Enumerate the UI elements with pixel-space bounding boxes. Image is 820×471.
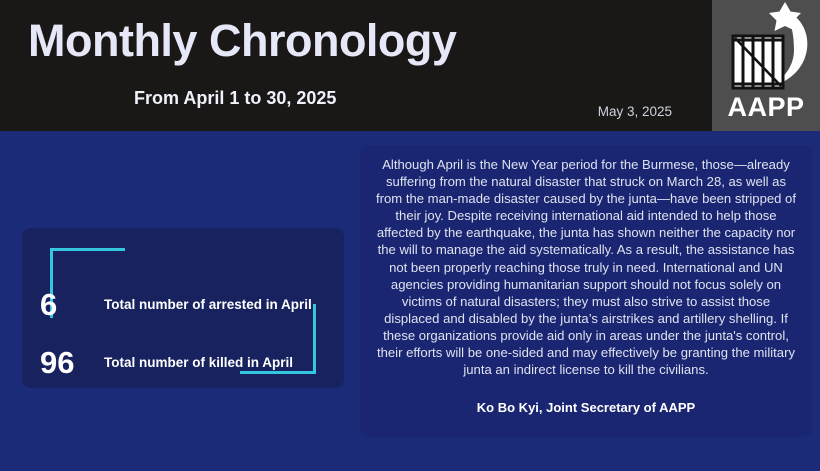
aapp-logo-wordmark: AAPP — [712, 94, 820, 121]
prison-cage-icon — [733, 36, 783, 88]
stat-label-arrested: Total number of arrested in April — [104, 297, 312, 312]
quote-card: Although April is the New Year period fo… — [360, 145, 812, 437]
quote-text: Although April is the New Year period fo… — [374, 156, 798, 378]
header-text-block: Monthly Chronology From April 1 to 30, 2… — [0, 0, 712, 131]
stat-row: 6 Total number of arrested in April — [22, 282, 344, 326]
quote-attribution: Ko Bo Kyi, Joint Secretary of AAPP — [360, 400, 812, 415]
stat-label-killed: Total number of killed in April — [104, 355, 293, 370]
header-bar: Monthly Chronology From April 1 to 30, 2… — [0, 0, 820, 131]
stat-value-killed: 96 — [22, 347, 104, 378]
aapp-logo: AAPP — [712, 0, 820, 131]
statistics-card: 6 Total number of arrested in April 96 T… — [22, 228, 344, 388]
stat-value-arrested: 6 — [22, 289, 104, 320]
stat-row: 96 Total number of killed in April — [22, 340, 344, 384]
aapp-logo-mark — [712, 2, 820, 94]
monthly-chronology-infographic: Monthly Chronology From April 1 to 30, 2… — [0, 0, 820, 471]
date-range-subtitle: From April 1 to 30, 2025 — [134, 88, 336, 109]
page-title: Monthly Chronology — [28, 17, 456, 64]
report-date: May 3, 2025 — [598, 104, 672, 119]
